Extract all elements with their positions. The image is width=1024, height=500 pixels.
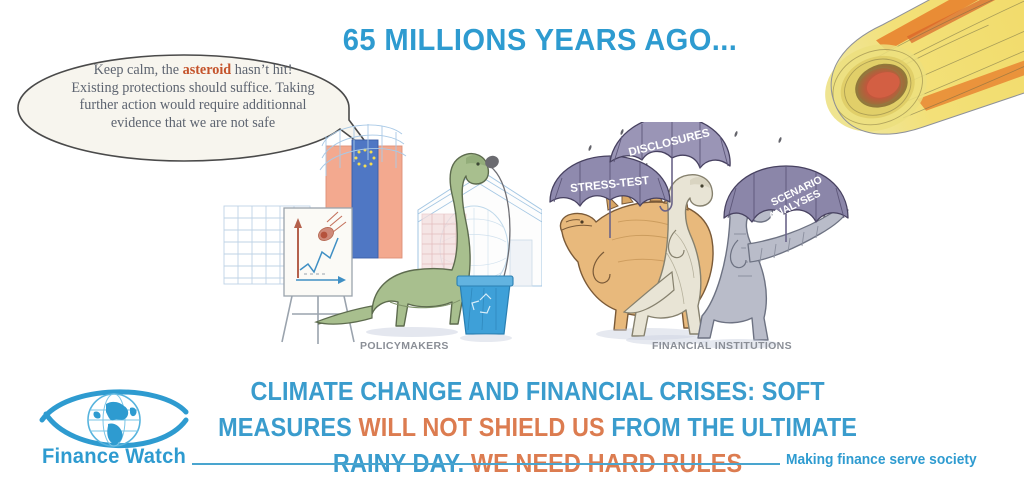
bubble-line-3: further action would require additionnal [80,97,307,113]
page-title: 65 MILLIONS YEARS AGO... [338,22,742,58]
brand-tagline: Making finance serve society [786,452,977,468]
brand-name: Finance Watch [37,445,191,469]
bubble-highlight-asteroid: asteroid [183,62,232,78]
bubble-line-2: Existing protections should suffice. Tak… [71,80,314,96]
bubble-line-1-pre: Keep calm, the [94,62,183,78]
slogan-part-2: WILL NOT SHIELD US [358,414,611,442]
recycling-bin-icon [457,276,513,342]
scene-financial-institutions: STRESS-TEST DISCLOSURES SCENARIO [548,122,858,354]
caption-policymakers: POLICYMAKERS [360,340,449,352]
globe-icon [88,394,140,446]
scene-policymakers [222,118,542,353]
poster-canvas: 65 MILLIONS YEARS AGO... Keep calm, the … [0,0,1024,500]
footer-divider [192,463,780,465]
slogan: CLIMATE CHANGE AND FINANCIAL CRISES: SOF… [188,374,887,482]
bubble-line-1-post: hasn’t hit! [231,62,292,78]
caption-financial-institutions: FINANCIAL INSTITUTIONS [652,340,792,352]
